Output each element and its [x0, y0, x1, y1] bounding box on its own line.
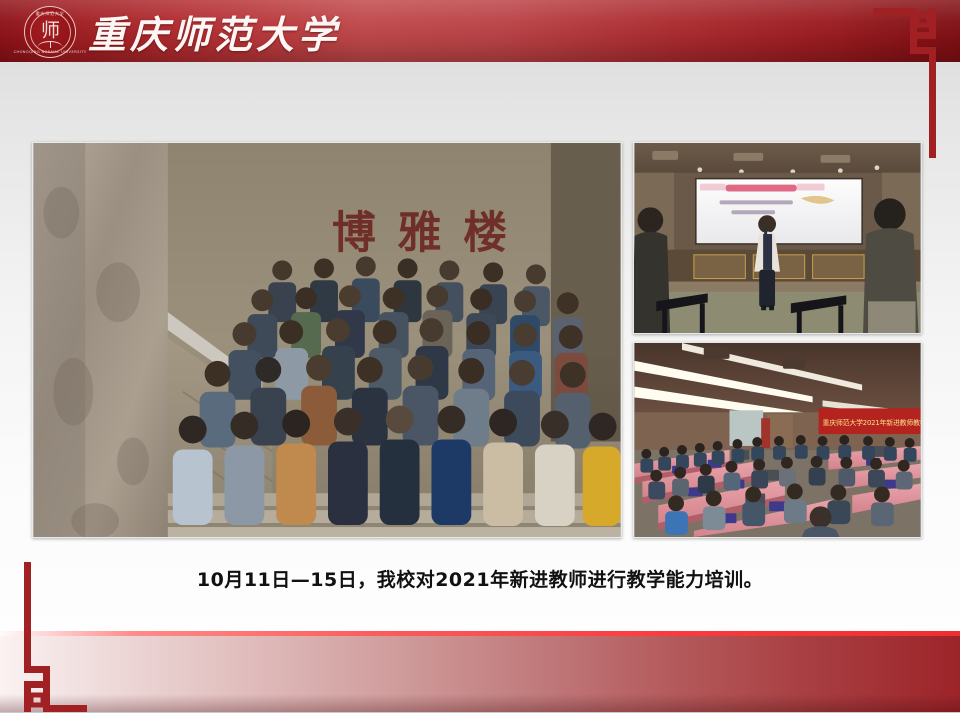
chinese-key-corner-icon-bottom-left — [17, 562, 87, 712]
seal-arc-bottom-text: CHONGQING NORMAL UNIVERSITY — [14, 50, 87, 54]
seal-center-mark: 师 — [41, 21, 59, 40]
audience-hall-photo[interactable]: 重庆师范大学2021年新进教师教学能力培训 — [633, 342, 922, 538]
university-title: 重庆师范大学 — [88, 3, 340, 59]
lecture-speaker-photo[interactable] — [633, 142, 922, 334]
slide-caption: 10月11日—15日，我校对2021年新进教师进行教学能力培训。 — [0, 558, 960, 598]
chinese-key-corner-icon-top-right — [873, 8, 943, 158]
presentation-slide: 重庆师范大学 师 CHONGQING NORMAL UNIVERSITY 重庆师… — [0, 0, 960, 720]
university-seal-icon: 重庆师范大学 师 CHONGQING NORMAL UNIVERSITY — [24, 6, 76, 58]
bottom-divider-line — [0, 712, 960, 713]
bottom-accent-line — [0, 631, 960, 636]
group-photo-main[interactable]: 博雅楼 — [32, 142, 622, 538]
seal-book-icon — [37, 41, 63, 48]
svg-text:重庆师范大学2021年新进教师教学能力培训: 重庆师范大学2021年新进教师教学能力培训 — [823, 418, 921, 427]
bottom-white-strip — [0, 712, 960, 720]
svg-text:博雅楼: 博雅楼 — [332, 207, 529, 258]
seal-arc-top-text: 重庆师范大学 — [36, 11, 65, 17]
bottom-gradient-band — [0, 636, 960, 712]
